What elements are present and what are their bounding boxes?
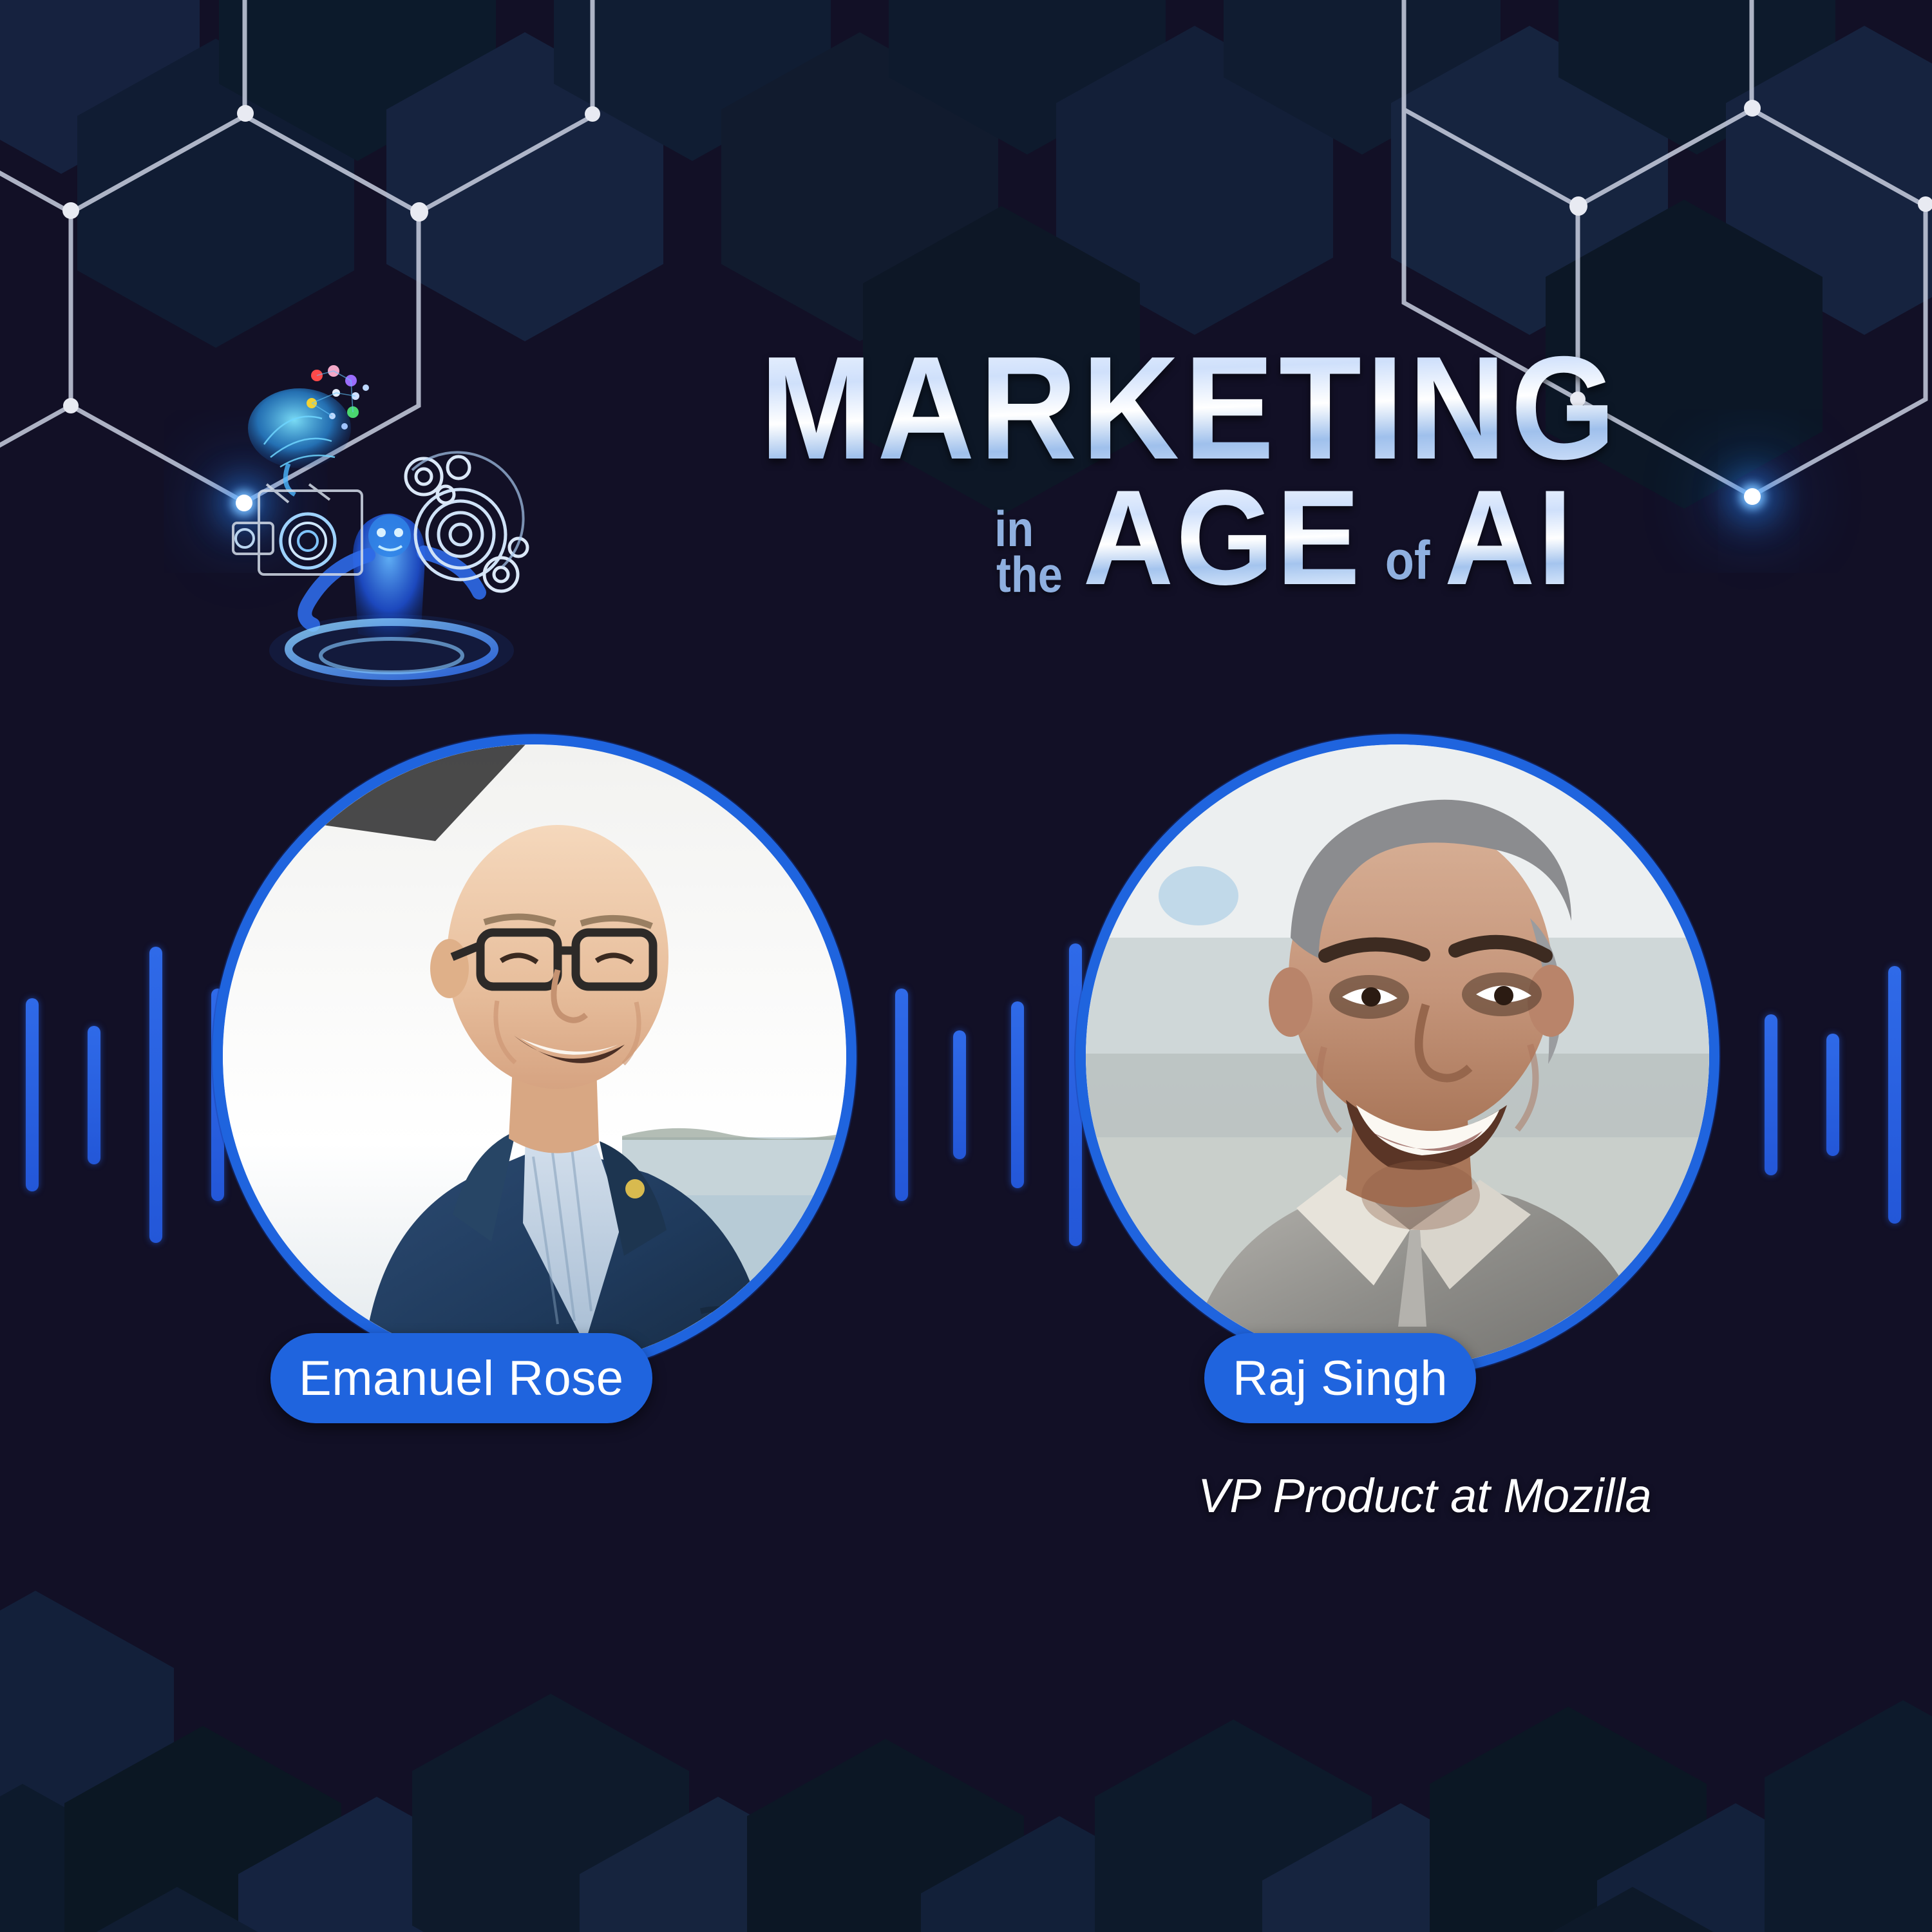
show-title: MARKETING in the AGE of AI (554, 348, 1777, 696)
guest-name-badge-left: Emanuel Rose (270, 1333, 652, 1423)
wave-bar (953, 1030, 966, 1159)
title-word-of: of (1385, 535, 1430, 587)
mesh-node (585, 106, 600, 122)
guest-name-badge-right: Raj Singh (1204, 1333, 1476, 1423)
title-marketing: MARKETING (760, 335, 1620, 482)
title-word-in: in (994, 506, 1034, 553)
podcast-cover: MARKETING in the AGE of AI (0, 0, 1932, 1932)
title-word-age: AGE (1083, 477, 1362, 598)
wave-bar (1011, 1001, 1024, 1188)
brand-header: MARKETING in the AGE of AI (219, 348, 1777, 696)
mesh-node (1744, 100, 1761, 117)
guest-card-right[interactable]: Raj Singh VP Product at Mozilla (1056, 721, 1797, 1610)
ai-robot-hologram-icon (219, 348, 554, 696)
guest-role-right: VP Product at Mozilla (1198, 1468, 1652, 1523)
mesh-node (62, 202, 79, 219)
guest-card-left[interactable]: Emanuel Rose (193, 721, 902, 1494)
title-second-line: in the AGE of AI (992, 477, 1580, 598)
guest-photo-left (213, 734, 857, 1378)
mesh-node (63, 398, 79, 413)
wave-bar (88, 1026, 100, 1164)
portrait-emanuel-rose (223, 744, 846, 1368)
wave-bar (1826, 1034, 1839, 1156)
title-in-the-stack: in the (992, 506, 1067, 599)
mesh-node (410, 202, 428, 222)
wave-bar (26, 998, 39, 1191)
wave-bar (1888, 966, 1901, 1224)
title-word-the: the (996, 552, 1063, 598)
portrait-raj-singh (1086, 744, 1709, 1368)
wave-bar (149, 947, 162, 1243)
mesh-node (237, 105, 254, 122)
mesh-node (1918, 196, 1932, 212)
title-word-ai: AI (1444, 477, 1575, 598)
hex-fill (1765, 1700, 1932, 1932)
waveform-center (895, 902, 1082, 1288)
mesh-node (1569, 196, 1587, 216)
guest-photo-right (1075, 734, 1719, 1378)
